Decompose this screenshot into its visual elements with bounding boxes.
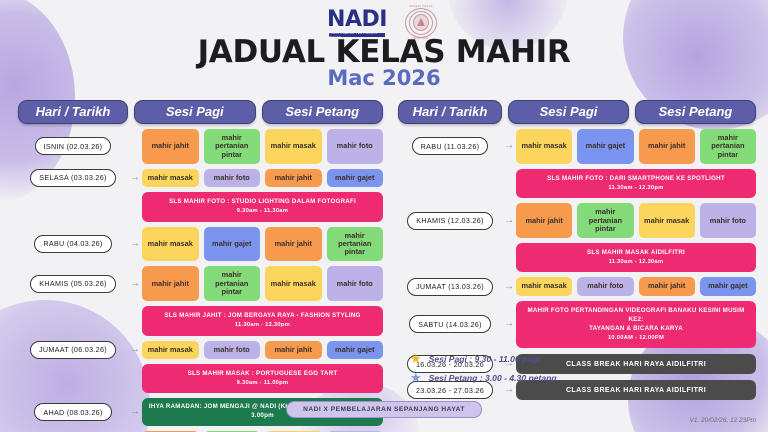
- class-chip[interactable]: mahir masak: [142, 341, 199, 359]
- arrow-icon: →: [502, 141, 516, 151]
- class-chip[interactable]: mahir jahit: [639, 129, 695, 164]
- petang-group: mahir jahitmahir gajet: [265, 169, 383, 187]
- class-chip[interactable]: mahir jahit: [142, 129, 199, 164]
- class-chip[interactable]: mahir gajet: [577, 129, 633, 164]
- class-chip[interactable]: mahir jahit: [265, 169, 322, 187]
- sls-banner[interactable]: SLS MAHIR FOTO : DARI SMARTPHONE KE SPOT…: [516, 169, 756, 198]
- pagi-group: mahir masakmahir foto: [516, 277, 634, 295]
- sls-banner[interactable]: SLS MAHIR MASAK : PORTUGUESE EGG TART 9.…: [142, 364, 383, 393]
- date-cell: AHAD (08.03.26): [18, 403, 128, 421]
- pagi-group: mahir masakmahir foto: [142, 169, 260, 187]
- class-chip[interactable]: mahir gajet: [327, 341, 384, 359]
- banner-time: 11.30am - 12.30am: [520, 258, 752, 266]
- schedule-table-left: Hari / Tarikh Sesi Pagi Sesi Petang ISNI…: [18, 100, 383, 432]
- table-row: KHAMIS (12.03.26) → mahir jahitmahir per…: [398, 203, 756, 238]
- table-row: ISNIN (02.03.26) mahir jahitmahir pertan…: [18, 129, 383, 164]
- legend-label: Sesi Petang : 3.00 - 4.30 petang: [429, 373, 557, 383]
- petang-group: mahir jahitmahir gajet: [265, 341, 383, 359]
- table-row: JUMAAT (06.03.26) → mahir masakmahir fot…: [18, 341, 383, 359]
- banner-title: SLS MAHIR MASAK AIDILFITRI: [520, 249, 752, 258]
- banner-title: SLS MAHIR FOTO : STUDIO LIGHTING DALAM F…: [146, 198, 379, 207]
- class-chip[interactable]: mahir jahit: [265, 227, 322, 262]
- poster-canvas: NADI TIADA DAERAH TERTINGGAL DIGITAL NEG…: [0, 0, 768, 432]
- table-row: JUMAAT (13.03.26) → mahir masakmahir fot…: [398, 277, 756, 295]
- session-cells: mahir jahitmahir pertanian pintar mahir …: [142, 129, 383, 164]
- session-cells: mahir masakmahir gajet mahir jahitmahir …: [142, 227, 383, 262]
- petang-group: mahir masakmahir foto: [265, 266, 383, 301]
- date-cell: KHAMIS (12.03.26): [398, 212, 502, 230]
- banner-time: 9.30am - 11.00pm: [146, 379, 379, 387]
- class-chip[interactable]: mahir pertanian pintar: [327, 227, 384, 262]
- banner-title: SLS MAHIR MASAK : PORTUGUESE EGG TART: [146, 370, 379, 379]
- banner-title: SLS MAHIR JAHIT : JOM BERGAYA RAYA - FAS…: [146, 312, 379, 321]
- date-cell: JUMAAT (06.03.26): [18, 341, 128, 359]
- session-cells: mahir masakmahir foto mahir jahitmahir g…: [142, 341, 383, 359]
- class-chip[interactable]: mahir pertanian pintar: [700, 129, 756, 164]
- class-chip[interactable]: mahir jahit: [142, 266, 199, 301]
- date-pill[interactable]: JUMAAT (06.03.26): [30, 341, 116, 359]
- col-header-pagi: Sesi Pagi: [134, 100, 256, 124]
- table-row: RABU (04.03.26) → mahir masakmahir gajet…: [18, 227, 383, 262]
- class-chip[interactable]: mahir masak: [265, 266, 322, 301]
- table-row: KHAMIS (05.03.26) → mahir jahitmahir per…: [18, 266, 383, 301]
- banner-row: SLS MAHIR MASAK : PORTUGUESE EGG TART 9.…: [18, 359, 383, 393]
- date-cell: ISNIN (02.03.26): [18, 137, 128, 155]
- date-pill[interactable]: RABU (11.03.26): [412, 137, 489, 155]
- class-chip[interactable]: mahir masak: [142, 227, 199, 262]
- petang-group: mahir jahitmahir pertanian pintar: [639, 129, 757, 164]
- banner-row: SLS MAHIR FOTO : STUDIO LIGHTING DALAM F…: [18, 187, 383, 221]
- session-cells: mahir masakmahir gajet mahir jahitmahir …: [516, 129, 756, 164]
- table-header-right: Hari / Tarikh Sesi Pagi Sesi Petang: [398, 100, 756, 124]
- arrow-icon: →: [502, 282, 516, 292]
- sls-banner[interactable]: SLS MAHIR JAHIT : JOM BERGAYA RAYA - FAS…: [142, 306, 383, 335]
- table-row: RABU (11.03.26) → mahir masakmahir gajet…: [398, 129, 756, 164]
- date-cell: RABU (04.03.26): [18, 235, 128, 253]
- sls-banner[interactable]: SLS MAHIR MASAK AIDILFITRI 11.30am - 12.…: [516, 243, 756, 272]
- banner-subtitle: TAYANGAN & BICARA KARYA: [520, 325, 752, 334]
- class-chip[interactable]: mahir masak: [639, 203, 695, 238]
- class-chip[interactable]: mahir pertanian pintar: [204, 266, 261, 301]
- arrow-icon: →: [128, 345, 142, 355]
- star-icon: ★: [410, 352, 422, 365]
- banner-time: 11.30am - 12.30pm: [146, 321, 379, 329]
- legend-item: ★ Sesi Pagi : 9.30 - 11.00 pagi: [410, 352, 557, 365]
- date-cell: SABTU (14.03.26): [398, 315, 502, 333]
- class-chip[interactable]: mahir foto: [577, 277, 633, 295]
- date-pill[interactable]: SABTU (14.03.26): [409, 315, 491, 333]
- date-pill[interactable]: AHAD (08.03.26): [34, 403, 111, 421]
- col-header-date: Hari / Tarikh: [18, 100, 128, 124]
- arrow-icon: →: [128, 407, 142, 417]
- session-legend: ★ Sesi Pagi : 9.30 - 11.00 pagi ★ Sesi P…: [410, 352, 557, 390]
- session-cells: mahir jahitmahir pertanian pintar mahir …: [142, 266, 383, 301]
- arrow-icon: →: [502, 319, 516, 329]
- banner-time: 10.00AM - 12.00PM: [520, 334, 752, 342]
- petang-group: mahir masakmahir foto: [639, 203, 757, 238]
- petang-group: mahir masakmahir foto: [265, 129, 383, 164]
- pagi-group: mahir jahitmahir pertanian pintar: [516, 203, 634, 238]
- legend-item: ★ Sesi Petang : 3.00 - 4.30 petang: [410, 371, 557, 384]
- class-chip[interactable]: mahir jahit: [639, 277, 695, 295]
- date-cell: JUMAAT (13.03.26): [398, 278, 502, 296]
- date-pill[interactable]: JUMAAT (13.03.26): [407, 278, 493, 296]
- petang-group: mahir jahitmahir gajet: [639, 277, 757, 295]
- session-cells: mahir masakmahir foto mahir jahitmahir g…: [142, 169, 383, 187]
- arrow-icon: →: [502, 216, 516, 226]
- date-pill[interactable]: SELASA (03.03.26): [30, 169, 115, 187]
- col-header-date: Hari / Tarikh: [398, 100, 502, 124]
- arrow-icon: →: [128, 239, 142, 249]
- class-chip[interactable]: mahir foto: [204, 169, 261, 187]
- class-chip[interactable]: mahir masak: [265, 129, 322, 164]
- banner-time: 9.30am - 11.30am: [146, 207, 379, 215]
- class-chip[interactable]: mahir masak: [516, 277, 572, 295]
- date-cell: RABU (11.03.26): [398, 137, 502, 155]
- date-pill[interactable]: ISNIN (02.03.26): [35, 137, 112, 155]
- date-pill[interactable]: KHAMIS (12.03.26): [407, 212, 492, 230]
- class-chip[interactable]: mahir jahit: [516, 203, 572, 238]
- pagi-group: mahir jahitmahir pertanian pintar: [142, 129, 260, 164]
- class-chip[interactable]: mahir foto: [204, 341, 261, 359]
- banner-title: SLS MAHIR FOTO : DARI SMARTPHONE KE SPOT…: [520, 175, 752, 184]
- class-chip[interactable]: mahir gajet: [700, 277, 756, 295]
- date-pill[interactable]: RABU (04.03.26): [34, 235, 111, 253]
- class-chip[interactable]: mahir pertanian pintar: [577, 203, 633, 238]
- arrow-icon: →: [128, 173, 142, 183]
- event-banner[interactable]: MAHIR FOTO PERTANDINGAN VIDEOGRAFI BANAK…: [516, 301, 756, 348]
- table-row: SABTU (14.03.26) → MAHIR FOTO PERTANDING…: [398, 301, 756, 348]
- sls-banner[interactable]: SLS MAHIR FOTO : STUDIO LIGHTING DALAM F…: [142, 192, 383, 221]
- class-chip[interactable]: mahir foto: [327, 266, 384, 301]
- date-cell: SELASA (03.03.26): [18, 169, 128, 187]
- legend-label: Sesi Pagi : 9.30 - 11.00 pagi: [429, 354, 540, 364]
- class-chip[interactable]: mahir jahit: [265, 341, 322, 359]
- petang-group: mahir jahitmahir pertanian pintar: [265, 227, 383, 262]
- page-subtitle: Mac 2026: [0, 66, 768, 90]
- col-header-petang: Sesi Petang: [635, 100, 756, 124]
- table-body-left: ISNIN (02.03.26) mahir jahitmahir pertan…: [18, 129, 383, 432]
- class-chip[interactable]: mahir gajet: [327, 169, 384, 187]
- date-cell: KHAMIS (05.03.26): [18, 275, 128, 293]
- table-header-left: Hari / Tarikh Sesi Pagi Sesi Petang: [18, 100, 383, 124]
- class-chip[interactable]: mahir gajet: [204, 227, 261, 262]
- nadi-logo: NADI TIADA DAERAH TERTINGGAL DIGITAL: [327, 9, 387, 37]
- session-cells: mahir masakmahir foto mahir jahitmahir g…: [516, 277, 756, 295]
- pagi-group: mahir jahitmahir pertanian pintar: [142, 266, 260, 301]
- class-chip[interactable]: mahir foto: [327, 129, 384, 164]
- nadi-wordmark: NADI: [327, 9, 387, 31]
- pagi-group: mahir masakmahir gajet: [142, 227, 260, 262]
- col-header-pagi: Sesi Pagi: [508, 100, 629, 124]
- class-chip[interactable]: mahir masak: [142, 169, 199, 187]
- banner-time: 11.30am - 12.30pm: [520, 184, 752, 192]
- col-header-petang: Sesi Petang: [262, 100, 384, 124]
- banner-row: SLS MAHIR JAHIT : JOM BERGAYA RAYA - FAS…: [18, 301, 383, 335]
- table-row: SELASA (03.03.26) → mahir masakmahir fot…: [18, 169, 383, 187]
- date-pill[interactable]: KHAMIS (05.03.26): [30, 275, 115, 293]
- class-chip[interactable]: mahir foto: [700, 203, 756, 238]
- version-stamp: V1. 20/02/26, 12.23Pm: [690, 417, 757, 424]
- page-title: JADUAL KELAS MAHIR: [0, 34, 768, 70]
- banner-row: SLS MAHIR FOTO : DARI SMARTPHONE KE SPOT…: [398, 164, 756, 198]
- footer-pill: NADI X PEMBELAJARAN SEPANJANG HAYAT: [286, 401, 482, 418]
- pagi-group: mahir masakmahir gajet: [516, 129, 634, 164]
- banner-row: SLS MAHIR MASAK AIDILFITRI 11.30am - 12.…: [398, 238, 756, 272]
- banner-title: MAHIR FOTO PERTANDINGAN VIDEOGRAFI BANAK…: [520, 307, 752, 325]
- class-chip[interactable]: mahir pertanian pintar: [204, 129, 261, 164]
- pagi-group: mahir masakmahir foto: [142, 341, 260, 359]
- session-cells: mahir jahitmahir pertanian pintar mahir …: [516, 203, 756, 238]
- arrow-icon: →: [128, 279, 142, 289]
- class-chip[interactable]: mahir masak: [516, 129, 572, 164]
- star-icon: ★: [410, 371, 422, 384]
